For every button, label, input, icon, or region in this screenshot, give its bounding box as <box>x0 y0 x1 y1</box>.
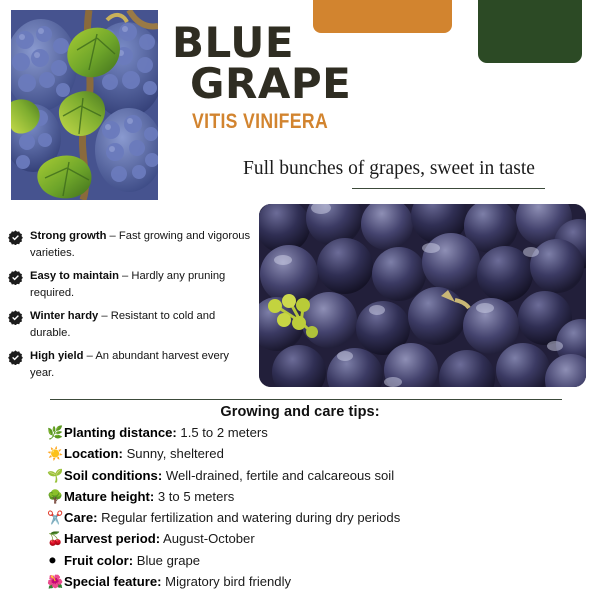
tip-text: Care: Regular fertilization and watering… <box>64 509 400 527</box>
tip-value: 3 to 5 meters <box>158 489 234 504</box>
tip-label: Mature height: <box>64 489 154 504</box>
grape-closeup-image <box>259 204 586 387</box>
list-item: Strong growth – Fast growing and vigorou… <box>8 228 256 262</box>
scissors-icon: ✂️ <box>47 509 64 527</box>
tip-text: Mature height: 3 to 5 meters <box>64 488 234 506</box>
tip-label: Planting distance: <box>64 425 177 440</box>
hibiscus-icon: 🌺 <box>47 573 64 591</box>
scientific-name: VITIS VINIFERA <box>192 110 461 134</box>
check-badge-icon <box>8 230 23 245</box>
sun-icon: ☀️ <box>47 445 64 463</box>
check-badge-icon <box>8 270 23 285</box>
check-badge-icon <box>8 350 23 365</box>
tip-value: 1.5 to 2 meters <box>180 425 267 440</box>
list-item-text: Easy to maintain – Hardly any pruning re… <box>30 268 256 302</box>
feature-dash: – <box>110 230 116 242</box>
plant-info-card: BLUE GRAPE VITIS VINIFERA Full bunches o… <box>0 0 600 600</box>
feature-label: High yield <box>30 350 83 362</box>
list-item-text: High yield – An abundant harvest every y… <box>30 348 256 382</box>
tips-heading: Growing and care tips: <box>0 404 600 420</box>
feature-dash: – <box>87 350 93 362</box>
tip-row: ⚫ Fruit color: Blue grape <box>47 552 592 570</box>
tip-label: Harvest period: <box>64 531 160 546</box>
feature-label: Easy to maintain <box>30 270 119 282</box>
tip-value: Migratory bird friendly <box>165 574 291 589</box>
tip-value: August-October <box>163 531 255 546</box>
tip-text: Location: Sunny, sheltered <box>64 445 224 463</box>
tip-row: 🌿 Planting distance: 1.5 to 2 meters <box>47 424 592 442</box>
tip-row: 🍒 Harvest period: August-October <box>47 530 592 548</box>
tips-divider <box>50 399 562 400</box>
tip-label: Special feature: <box>64 574 162 589</box>
list-item-text: Winter hardy – Resistant to cold and dur… <box>30 308 256 342</box>
tip-value: Regular fertilization and watering durin… <box>101 510 400 525</box>
tip-text: Special feature: Migratory bird friendly <box>64 573 291 591</box>
tip-text: Harvest period: August-October <box>64 530 255 548</box>
tip-row: ☀️ Location: Sunny, sheltered <box>47 445 592 463</box>
feature-label: Winter hardy <box>30 310 98 322</box>
list-item: Easy to maintain – Hardly any pruning re… <box>8 268 256 302</box>
check-badge-icon <box>8 310 23 325</box>
feature-dash: – <box>122 270 128 282</box>
list-item-text: Strong growth – Fast growing and vigorou… <box>30 228 256 262</box>
herb-icon: 🌿 <box>47 424 64 442</box>
tip-label: Fruit color: <box>64 553 133 568</box>
tip-label: Location: <box>64 446 123 461</box>
feature-dash: – <box>101 310 107 322</box>
page-title: BLUE GRAPE <box>172 22 512 104</box>
tip-label: Soil conditions: <box>64 468 162 483</box>
tip-row: 🌳 Mature height: 3 to 5 meters <box>47 488 592 506</box>
tip-text: Fruit color: Blue grape <box>64 552 200 570</box>
list-item: Winter hardy – Resistant to cold and dur… <box>8 308 256 342</box>
seedling-icon: 🌱 <box>47 467 64 485</box>
tip-value: Well-drained, fertile and calcareous soi… <box>166 468 394 483</box>
title-line-2: GRAPE <box>190 63 512 104</box>
tip-row: ✂️ Care: Regular fertilization and water… <box>47 509 592 527</box>
tip-label: Care: <box>64 510 97 525</box>
title-block: BLUE GRAPE VITIS VINIFERA <box>172 22 512 134</box>
cherries-icon: 🍒 <box>47 530 64 548</box>
list-item: High yield – An abundant harvest every y… <box>8 348 256 382</box>
tip-text: Soil conditions: Well-drained, fertile a… <box>64 467 394 485</box>
tagline-divider <box>352 188 545 189</box>
feature-label: Strong growth <box>30 230 106 242</box>
feature-list: Strong growth – Fast growing and vigorou… <box>8 228 256 388</box>
tip-row: 🌱 Soil conditions: Well-drained, fertile… <box>47 467 592 485</box>
black-circle-icon: ⚫ <box>47 552 64 570</box>
tip-value: Sunny, sheltered <box>127 446 224 461</box>
tip-row: 🌺 Special feature: Migratory bird friend… <box>47 573 592 591</box>
tagline: Full bunches of grapes, sweet in taste <box>243 158 593 180</box>
hero-grapevine-image <box>11 10 158 200</box>
tips-list: 🌿 Planting distance: 1.5 to 2 meters ☀️ … <box>47 424 592 594</box>
tip-text: Planting distance: 1.5 to 2 meters <box>64 424 268 442</box>
tree-icon: 🌳 <box>47 488 64 506</box>
tip-value: Blue grape <box>137 553 200 568</box>
